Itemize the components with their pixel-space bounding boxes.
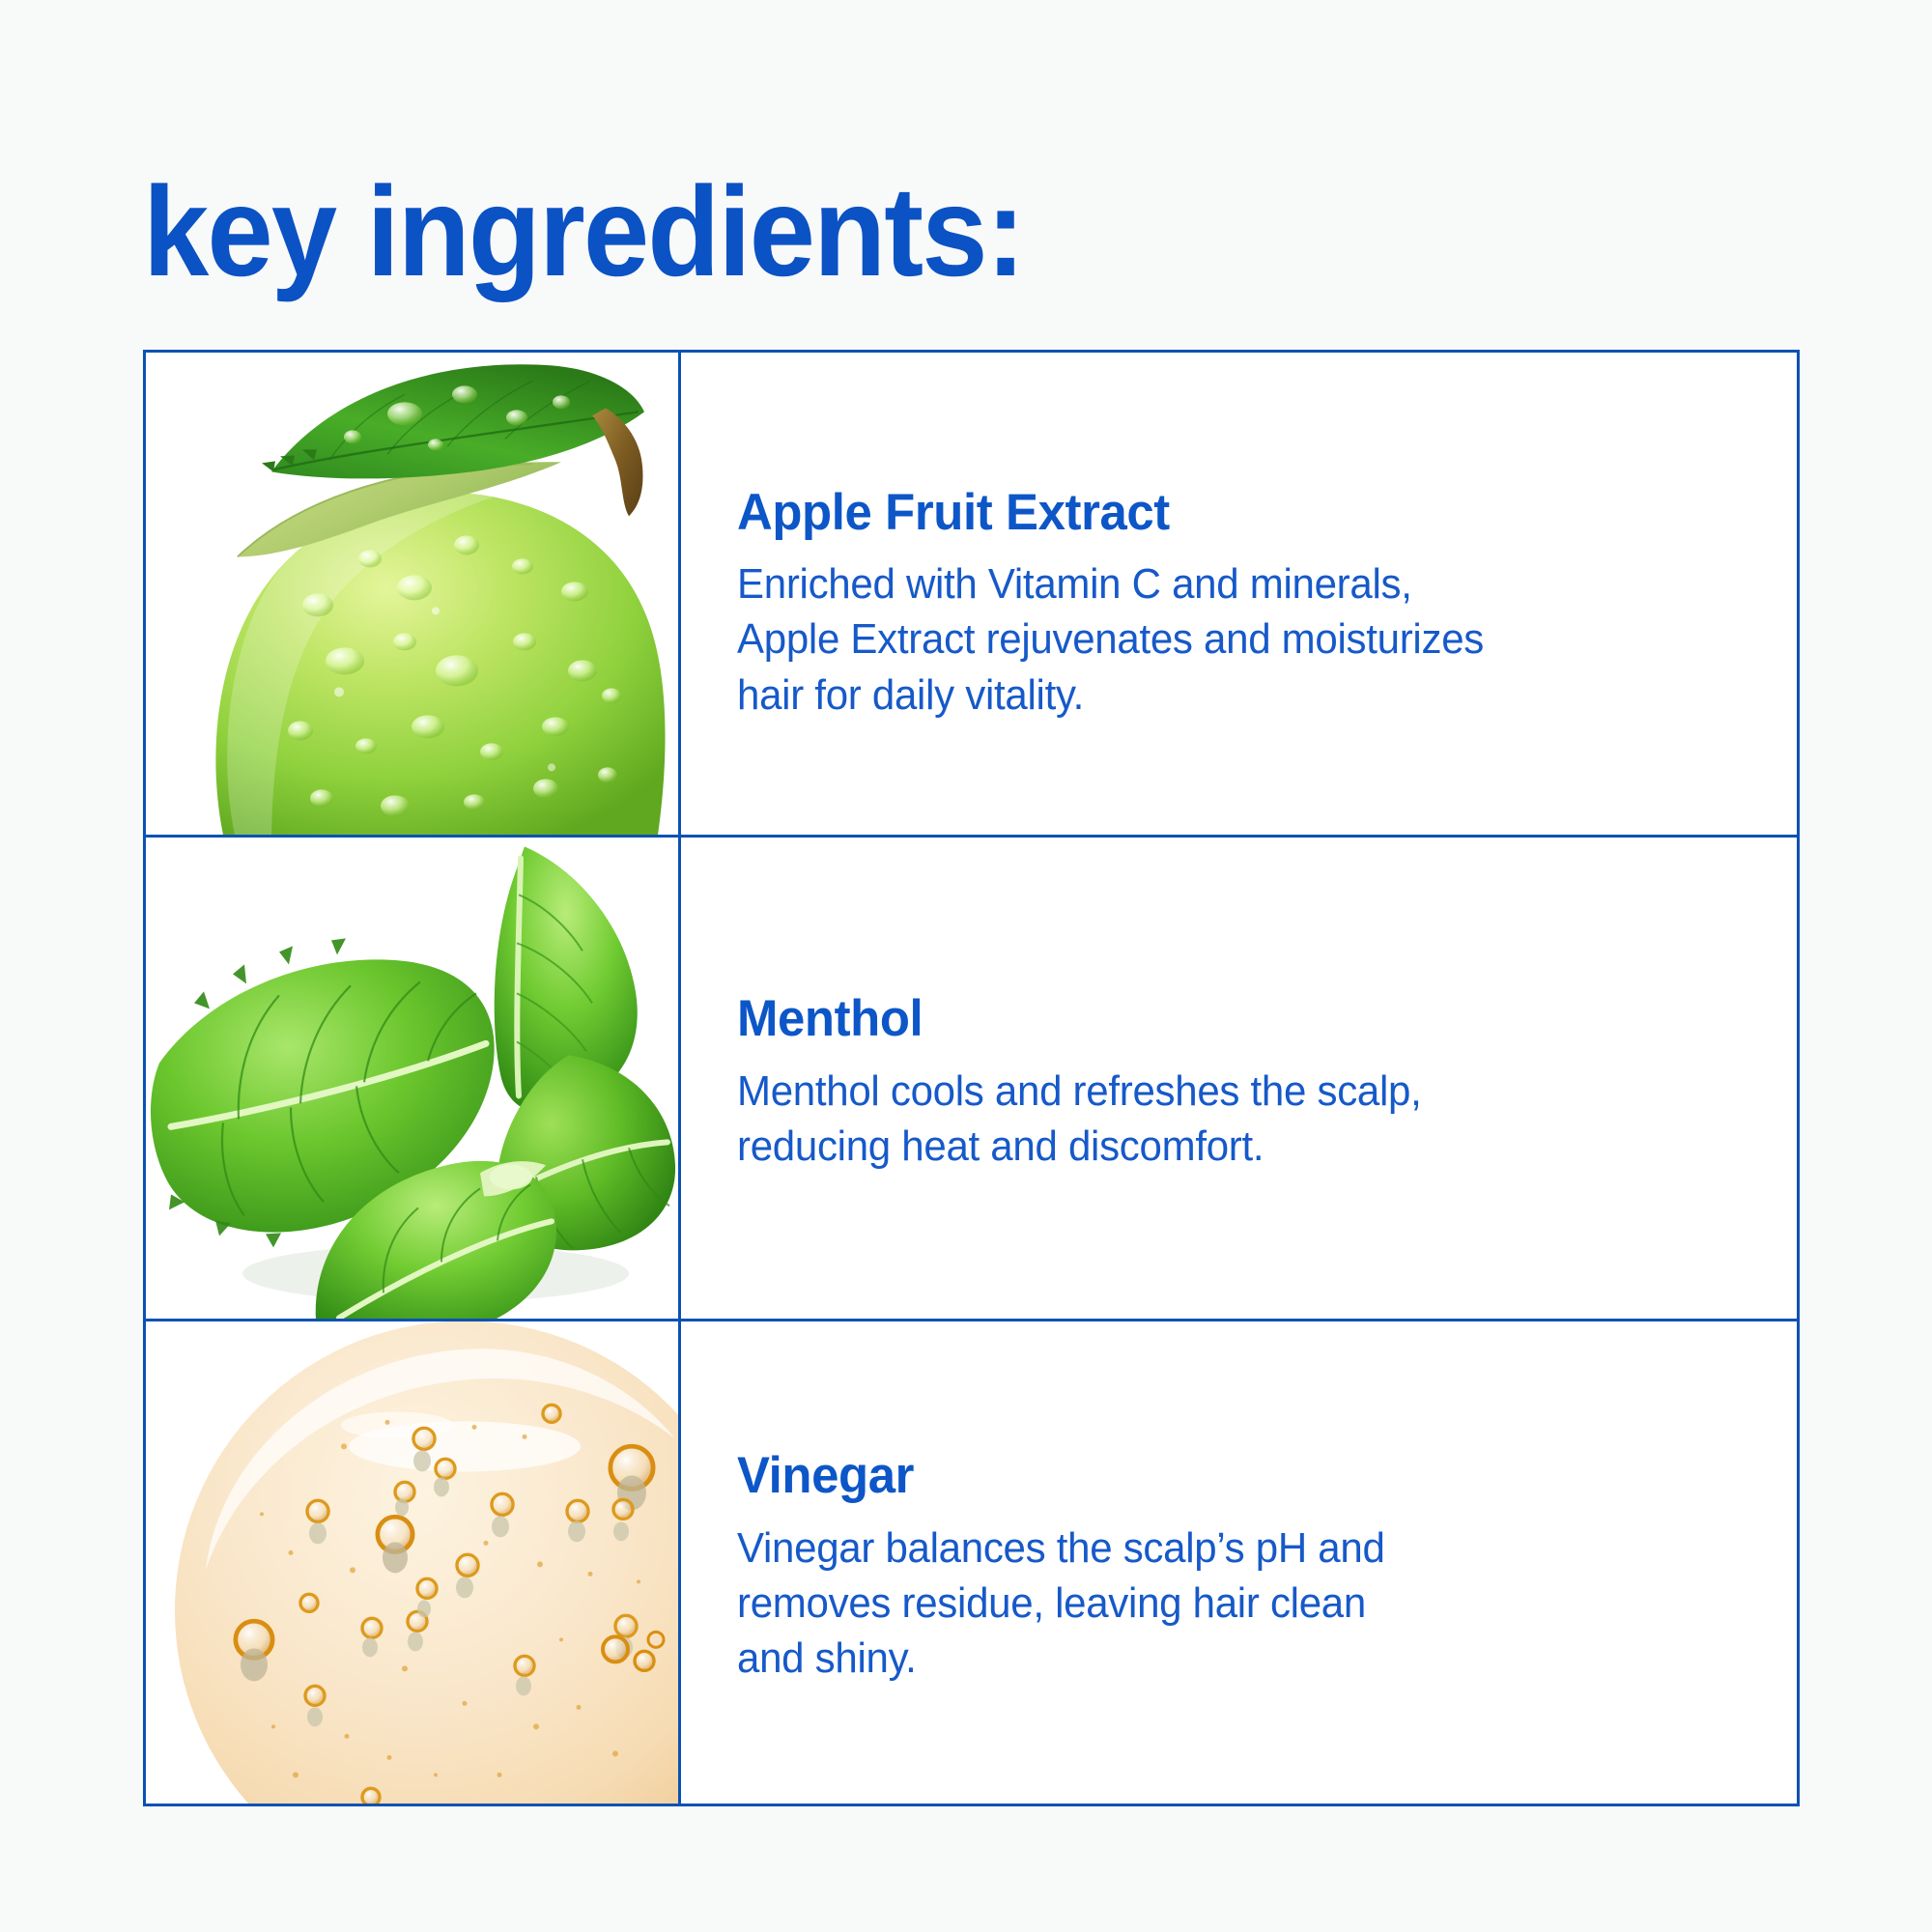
ingredient-text-menthol: Menthol Menthol cools and refreshes the … <box>681 838 1797 1320</box>
ingredient-image-apple <box>146 353 681 835</box>
table-row: Apple Fruit Extract Enriched with Vitami… <box>146 353 1797 838</box>
amber-gel-droplet-icon <box>146 1321 678 1804</box>
ingredient-name: Vinegar <box>737 1447 1699 1504</box>
mint-leaves-icon <box>146 838 678 1320</box>
ingredient-text-vinegar: Vinegar Vinegar balances the scalp’s pH … <box>681 1321 1797 1804</box>
ingredient-name: Apple Fruit Extract <box>737 484 1699 541</box>
ingredients-table: Apple Fruit Extract Enriched with Vitami… <box>143 350 1800 1806</box>
ingredient-description: Vinegar balances the scalp’s pH and remo… <box>737 1520 1693 1687</box>
ingredient-name: Menthol <box>737 990 1699 1047</box>
key-ingredients-page: key ingredients: <box>0 0 1932 1932</box>
ingredient-image-menthol <box>146 838 681 1320</box>
green-apple-with-leaf-icon <box>146 353 678 835</box>
ingredient-description: Enriched with Vitamin C and minerals, Ap… <box>737 556 1693 723</box>
ingredient-text-apple: Apple Fruit Extract Enriched with Vitami… <box>681 353 1797 835</box>
table-row: Vinegar Vinegar balances the scalp’s pH … <box>146 1321 1797 1804</box>
ingredient-description: Menthol cools and refreshes the scalp, r… <box>737 1064 1693 1174</box>
ingredient-image-vinegar <box>146 1321 681 1804</box>
table-row: Menthol Menthol cools and refreshes the … <box>146 838 1797 1322</box>
page-title: key ingredients: <box>143 168 1024 296</box>
